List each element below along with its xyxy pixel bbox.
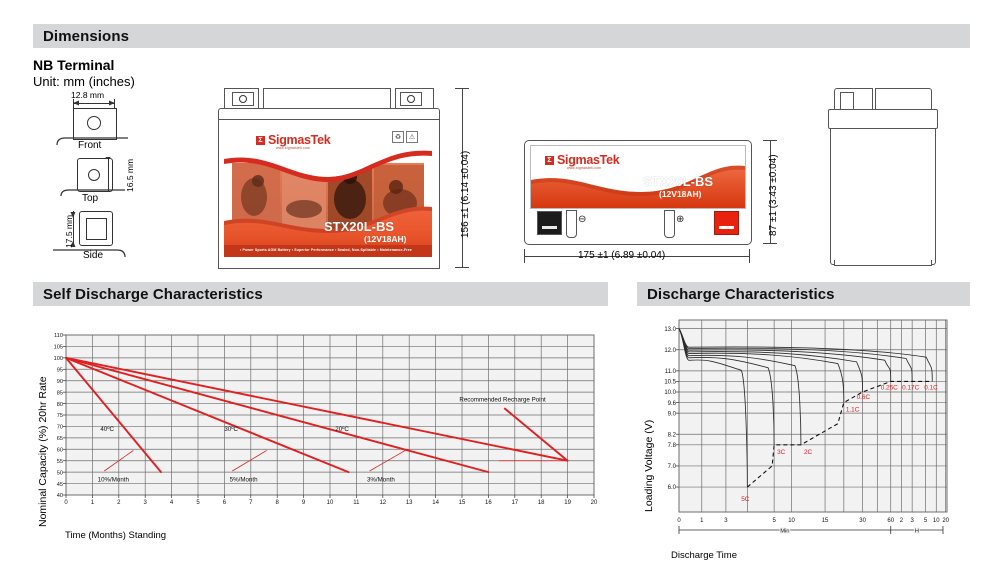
svg-text:8.2: 8.2	[668, 432, 677, 438]
positive-symbol: ⊕	[676, 214, 684, 225]
svg-text:30: 30	[859, 518, 866, 524]
svg-text:13.0: 13.0	[664, 327, 676, 333]
svg-text:10: 10	[327, 500, 334, 506]
side-base	[834, 260, 932, 266]
side-lid	[828, 109, 938, 129]
svg-text:13: 13	[406, 500, 413, 506]
battery-negative-terminal	[537, 211, 562, 235]
svg-text:5: 5	[196, 500, 200, 506]
svg-text:10.5: 10.5	[664, 380, 676, 386]
svg-text:3: 3	[724, 518, 728, 524]
self-discharge-chart: Nominal Capacity (%) 20hr Rate Time (Mon…	[33, 325, 608, 550]
svg-text:3: 3	[910, 518, 914, 524]
battery-divider-right	[390, 88, 396, 108]
svg-text:0: 0	[64, 500, 68, 506]
svg-text:16: 16	[485, 500, 492, 506]
recycle-icon: ♻	[392, 131, 404, 143]
battery-terminal-left-hole	[239, 95, 247, 103]
svg-text:60: 60	[887, 518, 894, 524]
battery-terminal-right-hole	[407, 95, 415, 103]
svg-text:Min: Min	[780, 529, 789, 535]
battery-depth-dimension: 87 ±1 (3.43 ±0.04)	[768, 154, 779, 236]
battery-vent-left	[566, 210, 577, 238]
section-title-dimensions: Dimensions	[33, 28, 129, 45]
discharge-xlabel: Discharge Time	[671, 550, 737, 561]
svg-text:0: 0	[677, 518, 681, 524]
battery-tagline: • Power Sports AGM Battery • Superior Pe…	[240, 248, 412, 252]
svg-text:3%/Month: 3%/Month	[367, 476, 395, 483]
svg-text:30ºC: 30ºC	[224, 426, 238, 433]
caution-icon: ⚠	[406, 131, 418, 143]
svg-text:18: 18	[538, 500, 545, 506]
negative-terminal-slot	[542, 226, 557, 229]
svg-text:5C: 5C	[741, 496, 750, 503]
terminal-side-view-label: Side	[83, 250, 103, 261]
self-discharge-plot: 1101051009590858075706560555045400123456…	[33, 325, 608, 525]
svg-text:3: 3	[144, 500, 148, 506]
svg-text:110: 110	[54, 333, 63, 339]
discharge-chart: Loading Voltage (V) Discharge Time 13.01…	[637, 312, 970, 570]
svg-text:5: 5	[772, 518, 776, 524]
battery-side-view	[828, 88, 940, 268]
svg-text:4: 4	[170, 500, 174, 506]
terminal-drawings: 12.8 mm Front 16.5 mm Top	[33, 90, 183, 275]
battery-width-dimension: 175 ±1 (6.89 ±0.04)	[578, 250, 665, 261]
svg-text:7: 7	[249, 500, 253, 506]
svg-text:10.0: 10.0	[664, 390, 676, 396]
battery-logo: Σ SigmasTek	[256, 133, 330, 147]
sigmas-mark-icon: Σ	[256, 136, 265, 145]
svg-text:50: 50	[57, 470, 63, 476]
battery-height-dimension: 156 ±1 (6.14 ±0.04)	[460, 151, 471, 238]
svg-text:75: 75	[57, 413, 63, 419]
svg-text:17: 17	[511, 500, 518, 506]
battery-model-top: STX20L-BS	[643, 174, 713, 189]
svg-text:19: 19	[564, 500, 571, 506]
svg-text:11.0: 11.0	[665, 369, 677, 375]
svg-text:12: 12	[379, 500, 386, 506]
section-header-dimensions: Dimensions	[33, 24, 970, 48]
battery-positive-terminal	[714, 211, 739, 235]
svg-text:14: 14	[432, 500, 439, 506]
battery-label-top: Σ SigmasTek www.sigmastek.com STX20L-BS …	[530, 145, 746, 209]
nb-terminal-title: NB Terminal	[33, 57, 114, 73]
side-case	[830, 128, 936, 265]
svg-text:8: 8	[276, 500, 280, 506]
svg-text:15: 15	[822, 518, 829, 524]
battery-brand-name: SigmasTek	[268, 133, 330, 147]
battery-spec-top: (12V18AH)	[659, 189, 702, 199]
svg-text:12.0: 12.0	[664, 348, 676, 354]
svg-text:10: 10	[933, 518, 940, 524]
svg-text:85: 85	[57, 390, 63, 396]
section-title-self-discharge: Self Discharge Characteristics	[33, 286, 263, 303]
nb-terminal-unit: Unit: mm (inches)	[33, 74, 135, 89]
svg-text:3C: 3C	[777, 449, 786, 456]
svg-text:40: 40	[57, 493, 63, 499]
top-depth-dim-top-tick	[763, 140, 777, 141]
svg-text:90: 90	[57, 379, 63, 385]
svg-text:H: H	[915, 529, 919, 535]
svg-text:40ºC: 40ºC	[100, 426, 114, 433]
battery-top-view: Σ SigmasTek www.sigmastek.com STX20L-BS …	[524, 140, 752, 245]
svg-text:9.6: 9.6	[668, 401, 677, 407]
battery-top-logo: Σ SigmasTek	[545, 153, 619, 167]
top-width-dim-right-tick	[749, 249, 750, 263]
terminal-side-bracket	[33, 90, 183, 275]
battery-spec-front: (12V18AH)	[364, 234, 407, 244]
svg-text:1.1C: 1.1C	[846, 407, 860, 414]
svg-text:7.8: 7.8	[668, 443, 677, 449]
svg-text:Recommended Recharge Point: Recommended Recharge Point	[459, 396, 546, 403]
svg-text:100: 100	[54, 356, 63, 362]
battery-front-view: Σ SigmasTek www.sigmastek.com ♻ ⚠ STX20L…	[218, 88, 440, 268]
battery-brand-name-top: SigmasTek	[557, 153, 619, 167]
svg-text:1: 1	[91, 500, 95, 506]
svg-text:65: 65	[57, 436, 63, 442]
svg-text:20: 20	[942, 518, 949, 524]
battery-divider-left	[258, 88, 264, 108]
svg-text:55: 55	[57, 459, 63, 465]
sigmas-mark-icon-top: Σ	[545, 156, 554, 165]
svg-text:70: 70	[57, 425, 63, 431]
svg-text:60: 60	[57, 447, 63, 453]
svg-text:45: 45	[57, 482, 63, 488]
svg-text:2C: 2C	[804, 449, 813, 456]
self-discharge-xlabel: Time (Months) Standing	[65, 530, 166, 541]
svg-text:20ºC: 20ºC	[335, 426, 349, 433]
svg-text:9: 9	[302, 500, 306, 506]
svg-text:11: 11	[353, 500, 360, 506]
datasheet-page: Dimensions NB Terminal Unit: mm (inches)…	[0, 0, 1000, 574]
svg-text:2: 2	[900, 518, 904, 524]
svg-text:5%/Month: 5%/Month	[230, 476, 258, 483]
battery-vent-right	[664, 210, 675, 238]
svg-text:7.0: 7.0	[668, 464, 677, 470]
svg-text:105: 105	[54, 345, 63, 351]
front-height-dim-bot-tick	[455, 267, 469, 268]
svg-text:15: 15	[459, 500, 466, 506]
side-divider	[872, 88, 876, 110]
front-height-dim-top-tick	[455, 88, 469, 89]
svg-text:10%/Month: 10%/Month	[98, 476, 130, 483]
svg-text:0.6C: 0.6C	[857, 394, 871, 401]
svg-text:0.17C: 0.17C	[902, 384, 919, 391]
svg-text:1: 1	[700, 518, 704, 524]
svg-text:10: 10	[788, 518, 795, 524]
negative-symbol: ⊖	[578, 214, 586, 225]
battery-label-front: Σ SigmasTek www.sigmastek.com ♻ ⚠ STX20L…	[224, 125, 432, 257]
svg-text:0.25C: 0.25C	[881, 384, 898, 391]
svg-text:5: 5	[924, 518, 928, 524]
svg-text:20: 20	[591, 500, 598, 506]
svg-text:9.0: 9.0	[668, 411, 677, 417]
svg-text:80: 80	[57, 402, 63, 408]
battery-model-front: STX20L-BS	[324, 219, 394, 234]
svg-text:0.1C: 0.1C	[924, 384, 938, 391]
svg-text:2: 2	[117, 500, 121, 506]
top-depth-dim-bot-tick	[763, 243, 777, 244]
discharge-plot: 13.012.011.010.510.09.69.08.27.87.06.001…	[637, 312, 970, 547]
svg-text:6: 6	[223, 500, 227, 506]
section-header-self-discharge: Self Discharge Characteristics	[33, 282, 608, 306]
svg-text:95: 95	[57, 367, 63, 373]
section-header-discharge: Discharge Characteristics	[637, 282, 970, 306]
svg-text:6.0: 6.0	[668, 485, 677, 491]
positive-terminal-slot	[719, 226, 734, 229]
section-title-discharge: Discharge Characteristics	[637, 286, 835, 303]
top-width-dim-left-tick	[524, 249, 525, 263]
